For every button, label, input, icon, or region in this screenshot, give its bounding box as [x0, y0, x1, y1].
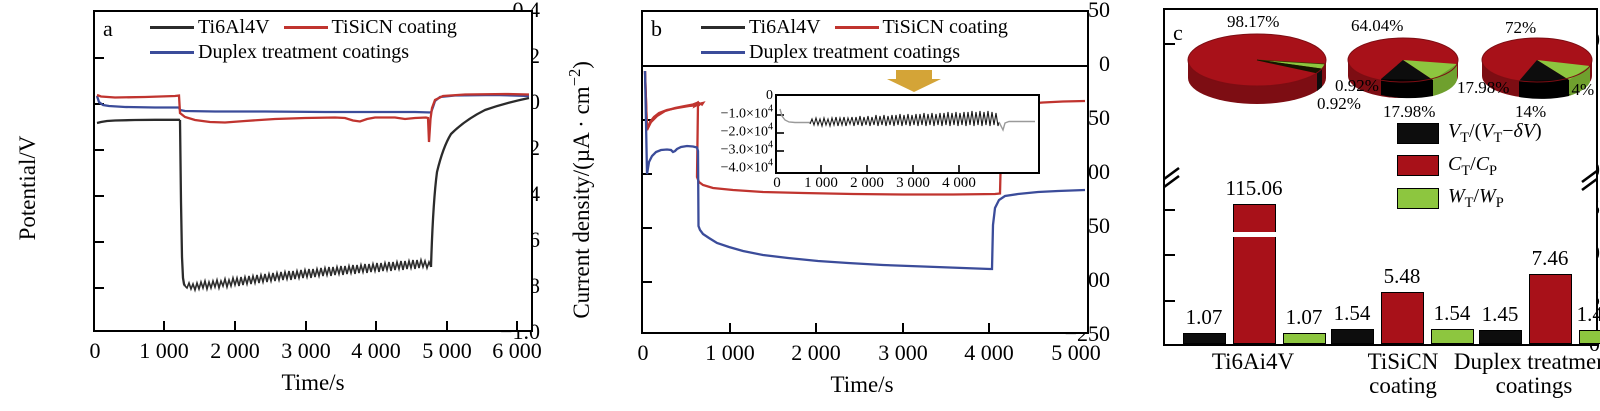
panel-c-letter: c [1173, 20, 1183, 46]
panel-b-inset [775, 94, 1040, 174]
panel-a-xtick: 1 000 [139, 338, 189, 364]
inset-xtick: 4 000 [942, 175, 976, 192]
legend-item-vt: VT/(VT−δV) [1397, 120, 1542, 147]
legend-swatch-green [1397, 188, 1439, 209]
pie-3-label-black: 14% [1515, 102, 1546, 122]
bar-black-1 [1183, 333, 1226, 344]
bar-black-2 [1331, 329, 1374, 344]
legend-item-wt: WT/WP [1397, 185, 1542, 212]
inset-xtick: 2 000 [850, 175, 884, 192]
legend-line-black [150, 26, 194, 29]
bar-value-label: 1.54 [1334, 301, 1371, 326]
panel-b-xtick: 4 000 [964, 340, 1014, 366]
legend-label-ct: CT/CP [1443, 153, 1497, 180]
legend-label: Ti6Al4V [749, 16, 821, 39]
inset-ytick-exp: 4 [768, 104, 773, 115]
panel-b-ylabel-suffix: ) [569, 61, 594, 69]
bar-red-1-break [1232, 232, 1277, 237]
pie-1-label-red: 98.17% [1227, 12, 1279, 32]
bar-value-label: 1.07 [1186, 305, 1223, 330]
panel-b-xtick: 0 [638, 340, 649, 366]
panel-a-xtick: 5 000 [422, 338, 472, 364]
pie-1-label-green: 0.92% [1335, 76, 1379, 96]
legend-label: Ti6Al4V [198, 16, 270, 39]
inset-ytick-text: −1.0×10 [721, 106, 768, 121]
panel-b-ylabel-exp: −2 [565, 69, 584, 87]
panel-a-plot-area: a Ti6Al4V TiSiCN coating Duplex treatmen… [93, 10, 533, 332]
panel-c-category-label: Duplex treatmentcoatings [1424, 350, 1600, 398]
panel-a-xtick: 0 [90, 338, 101, 364]
inset-ytick: 0 [679, 88, 773, 104]
legend-line-black [701, 26, 745, 29]
bar-green-3 [1579, 330, 1600, 344]
pie-1-label-black: 0.92% [1317, 94, 1361, 114]
panel-a-ylabel: Potential/V [15, 113, 41, 263]
cat-line-2: coatings [1496, 373, 1573, 398]
legend-item-ct: CT/CP [1397, 153, 1542, 180]
inset-pointer-arrow [887, 70, 941, 92]
inset-ytick: −2.0×104 [679, 122, 773, 141]
panel-a-xtick: 2 000 [210, 338, 260, 364]
panel-a-xtick: 3 000 [281, 338, 331, 364]
bar-value-label: 7.46 [1532, 246, 1569, 271]
cat-line-1: Duplex treatment [1454, 349, 1600, 374]
panel-b-xlabel: Time/s [762, 372, 962, 398]
panel-a-legend: Ti6Al4V TiSiCN coating Duplex treatment … [150, 16, 457, 64]
bar-black-3 [1479, 330, 1522, 344]
bar-red-1 [1233, 204, 1276, 344]
bar-red-2 [1381, 292, 1424, 344]
legend-line-red [284, 26, 328, 29]
legend-item-ti6al4v: Ti6Al4V TiSiCN coating [701, 16, 1008, 39]
legend-item-duplex: Duplex treatment coatings [150, 41, 457, 64]
panel-b-xtick: 5 000 [1051, 340, 1101, 366]
panel-b-xtick: 3 000 [878, 340, 928, 366]
inset-ytick-text: −2.0×10 [721, 124, 768, 139]
bar-value-label: 1.45 [1482, 302, 1519, 327]
panel-b-legend: Ti6Al4V TiSiCN coating Duplex treatment … [701, 16, 1008, 64]
panel-b-ylabel: Current density/(µA · cm−2) [565, 40, 595, 340]
inset-ytick-exp: 4 [768, 140, 773, 151]
panel-c: 120 110 15 10 5 0 c [1110, 0, 1600, 411]
pie-3-label-red: 72% [1505, 18, 1536, 38]
pie-chart-1 [1188, 34, 1326, 104]
inset-ytick-exp: 4 [768, 122, 773, 133]
pie-2-label-black: 17.98% [1383, 102, 1435, 122]
inset-xtick: 1 000 [804, 175, 838, 192]
legend-item-ti6al4v: Ti6Al4V TiSiCN coating [150, 16, 457, 39]
panel-a-xtick: 4 000 [351, 338, 401, 364]
legend-label-vt: VT/(VT−δV) [1443, 120, 1542, 147]
panel-b-ylabel-text: Current density/(µA · cm [569, 86, 594, 318]
inset-ytick-text: −4.0×10 [721, 160, 768, 175]
panel-a: Potential/V 0.4 0.2 0 −0.2 −0.4 −0.6 −0.… [0, 0, 540, 411]
bar-value-label: 1.07 [1286, 305, 1323, 330]
bar-value-label: 5.48 [1384, 264, 1421, 289]
panel-a-xlabel: Time/s [213, 370, 413, 396]
legend-item-duplex: Duplex treatment coatings [701, 41, 1008, 64]
panel-c-legend: VT/(VT−δV) CT/CP WT/WP [1397, 120, 1542, 212]
legend-swatch-red [1397, 155, 1439, 176]
pie-2-label-red: 64.04% [1351, 16, 1403, 36]
pie-2-label-green: 17.98% [1457, 78, 1509, 98]
legend-label: TiSiCN coating [332, 16, 457, 39]
legend-line-blue [701, 51, 745, 54]
bar-value-label: 1.45 [1577, 302, 1600, 327]
inset-ytick: −4.0×104 [679, 158, 773, 177]
inset-ytick: −1.0×104 [679, 104, 773, 123]
inset-xtick: 3 000 [896, 175, 930, 192]
bar-value-label: 115.06 [1226, 176, 1283, 201]
panel-c-category-label: Ti6Ai4V [1158, 350, 1348, 374]
pie-3-label-green: 14% [1563, 80, 1594, 100]
legend-label: Duplex treatment coatings [198, 41, 409, 64]
legend-line-blue [150, 51, 194, 54]
panel-b: Current density/(µA · cm−2) 50 0 −50 −10… [540, 0, 1110, 411]
bar-value-label: 1.54 [1434, 301, 1471, 326]
bar-red-3 [1529, 274, 1572, 344]
panel-c-plot-area: c [1163, 8, 1598, 346]
inset-curve [777, 96, 1038, 172]
bar-green-2 [1431, 329, 1474, 344]
panel-a-xtick: 6 000 [492, 338, 542, 364]
panel-b-letter: b [651, 16, 662, 42]
inset-ytick: −3.0×104 [679, 140, 773, 159]
legend-swatch-black [1397, 123, 1439, 144]
inset-ytick-text: −3.0×10 [721, 142, 768, 157]
panel-b-plot-area: b Ti6Al4V TiSiCN coating Duplex treatmen… [641, 10, 1089, 334]
legend-label: Duplex treatment coatings [749, 41, 960, 64]
figure-root: Potential/V 0.4 0.2 0 −0.2 −0.4 −0.6 −0.… [0, 0, 1600, 411]
legend-label: TiSiCN coating [883, 16, 1008, 39]
panel-b-xtick: 1 000 [705, 340, 755, 366]
inset-ytick-exp: 4 [768, 158, 773, 169]
panel-a-letter: a [103, 16, 113, 42]
bar-green-1 [1283, 333, 1326, 344]
inset-xtick: 0 [773, 175, 781, 192]
legend-label-wt: WT/WP [1443, 185, 1504, 212]
legend-line-red [835, 26, 879, 29]
panel-b-xtick: 2 000 [791, 340, 841, 366]
